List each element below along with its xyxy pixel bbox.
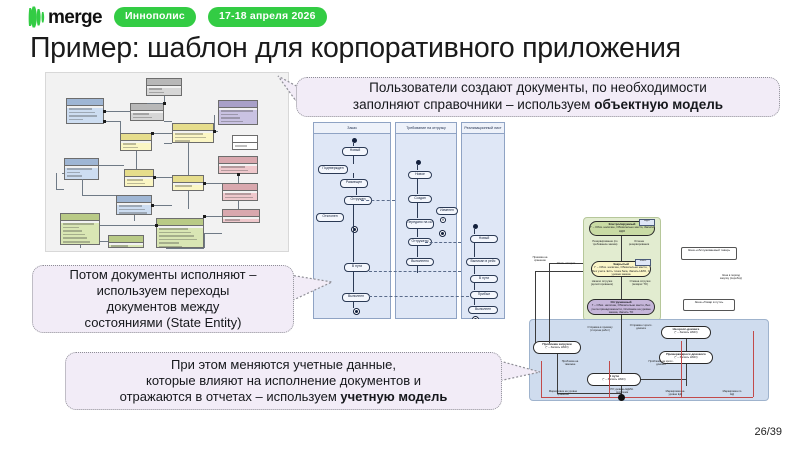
er-entity-attribute: [221, 166, 245, 168]
callout3-line2: которые влияют на исполнение документов …: [146, 373, 421, 388]
er-entity-attribute: [111, 245, 128, 247]
accounting-state-detail: (* – Запись НМО): [674, 330, 697, 334]
state-node: Создан: [408, 195, 432, 203]
er-relationship-line: [99, 165, 124, 166]
er-relationship-line: [164, 121, 172, 122]
er-relationship-endpoint: [203, 182, 206, 185]
state-node: Передано на склад: [406, 219, 434, 229]
er-entity-attribute: [159, 228, 188, 230]
accounting-transition-label: Резервирование (по требованию заказа): [591, 241, 619, 247]
er-entity-attribute: [63, 237, 87, 239]
state-node: Выполнен: [342, 293, 370, 302]
state-node: Отклонен: [316, 213, 344, 222]
callout1-line1: Пользователи создают документы, по необх…: [369, 80, 707, 95]
er-relationship-line: [152, 133, 172, 134]
state-transition-arrow: [474, 282, 475, 290]
er-entity-header: [117, 196, 151, 203]
accounting-transition-label: Маркировка по ЕД: [721, 391, 743, 397]
state-node: Размещен: [340, 179, 368, 188]
er-entity-attribute: [63, 223, 94, 225]
object-model-callout: Пользователи создают документы, по необх…: [296, 77, 780, 117]
state-final-node: [439, 230, 446, 237]
er-entity-attribute: [67, 168, 92, 170]
state-transition-arrow: [353, 301, 354, 308]
er-entity-body: [61, 223, 99, 245]
er-entity-attribute: [175, 133, 203, 135]
er-relationship-line: [188, 191, 189, 209]
er-entity-attribute: [159, 242, 179, 244]
state-node-label: Новый: [343, 148, 367, 153]
callout2-line3: документов между: [107, 299, 220, 314]
accounting-transition: [621, 277, 622, 299]
er-entity: [64, 158, 99, 180]
er-entity: [116, 195, 152, 215]
state-node-label: Новый: [471, 236, 497, 241]
er-entity-attribute: [133, 117, 152, 119]
er-entity-attribute: [149, 88, 162, 90]
er-relationship-line: [188, 143, 189, 175]
er-relationship-line: [56, 173, 57, 189]
accounting-transition-label: Проблема на таможне: [557, 361, 583, 367]
er-entity: [222, 183, 258, 201]
er-entity-attribute: [235, 145, 247, 147]
er-entity-attribute: [133, 113, 149, 115]
er-entity: [130, 103, 164, 121]
er-entity-header: [67, 99, 103, 106]
er-relationship-endpoint: [151, 132, 154, 135]
er-relationship-line: [100, 225, 156, 226]
accounting-transition-label: Отмена отгрузки (возврат ТО): [625, 281, 655, 287]
state-node-label: Размещен: [341, 180, 367, 185]
er-entity-body: [223, 219, 259, 223]
er-entity-header: [121, 134, 151, 141]
object-model-callout-text: Пользователи создают документы, по необх…: [345, 77, 731, 117]
er-entity-attribute: [67, 175, 82, 177]
er-entity-attribute: [149, 92, 164, 94]
er-entity: [218, 100, 258, 125]
accounting-junction-node: [618, 394, 625, 401]
accounting-state-detail: Г – Обяз. наличие, Обязательно место, Бе…: [592, 265, 650, 275]
accounting-state-detail: (* – Запись НМО): [545, 345, 568, 349]
er-diagram-object-model: [45, 72, 289, 252]
er-entity-attribute: [225, 197, 253, 199]
state-node-label: Изменен: [437, 208, 457, 213]
callout3-line3-bold: учетную модель: [340, 389, 447, 404]
accounting-state-detail: Г – Обяз. наличие, Обязательно место, Бе…: [591, 303, 651, 313]
er-entity-body: [173, 133, 213, 143]
page-number: 26/39: [754, 426, 782, 438]
er-entity-attribute: [225, 193, 251, 195]
accounting-transition-label: Приемка на хранение: [527, 257, 553, 263]
state-transition-arrow: [474, 298, 475, 305]
er-entity-attribute: [69, 108, 92, 110]
er-entity-attribute: [67, 172, 80, 174]
accounting-state-node: ОтгруженныйГ – Обяз. наличие, Обязательн…: [587, 299, 655, 315]
state-node-label: Прибыл: [471, 292, 497, 297]
er-entity-header: [125, 170, 153, 177]
accounting-transition-label: Начало отгрузки (долистирование): [587, 281, 617, 287]
state-lane-title: Требование на отгрузку: [396, 123, 456, 134]
er-entity-attribute: [69, 119, 83, 121]
callout1-line2-prefix: заполняют справочники – используем: [353, 97, 594, 112]
er-entity-body: [109, 245, 143, 248]
state-node-label: Передано на склад: [407, 220, 433, 225]
er-relationship-line: [100, 241, 108, 242]
er-entity-body: [219, 110, 257, 125]
accounting-transition-label: РЛ уровень ЕДИН. проблема: [607, 389, 637, 395]
state-lane: Реализационный листНовыйВыписан в рейсВ …: [461, 122, 505, 319]
badge-location: Иннополис: [114, 7, 196, 26]
state-node: Изменен: [436, 207, 458, 215]
er-entity-attribute: [221, 121, 243, 123]
er-entity-body: [147, 88, 181, 96]
er-relationship-endpoint: [103, 120, 106, 123]
accounting-state-detail: Г – Обяз. наличие, Обязательно место, За…: [590, 225, 653, 232]
er-entity: [66, 98, 104, 124]
er-relationship-line: [204, 233, 205, 248]
state-node-label: Выписан в рейс: [467, 259, 499, 264]
callout2-line1: Потом документы исполняют –: [70, 267, 257, 282]
accounting-transition: [686, 339, 687, 351]
er-entity-body: [157, 228, 203, 248]
er-relationship-line: [56, 189, 64, 190]
er-entity-header: [219, 101, 257, 108]
er-entity-body: [125, 179, 153, 187]
accounting-transition: [535, 271, 583, 272]
accounting-model-callout: При этом меняются учетные данные, которы…: [65, 352, 502, 410]
er-entity-attribute: [119, 209, 145, 211]
state-transition-arrow: [353, 173, 354, 178]
er-relationship-line: [204, 216, 222, 217]
state-node-label: Выполнен: [469, 307, 497, 312]
er-entity-header: [173, 176, 203, 183]
state-transition-arrow: [417, 165, 418, 170]
state-node-label: Подтвержден: [319, 166, 347, 171]
state-sync-link: [361, 200, 395, 201]
er-relationship-endpoint: [203, 215, 206, 218]
accounting-transition-label: Отправка в приемку (сторона работ): [583, 327, 617, 333]
er-entity-header: [61, 214, 99, 221]
er-entity-attribute: [123, 147, 138, 149]
er-entity-attribute: [225, 219, 240, 221]
state-node: Новое: [408, 171, 432, 179]
accounting-transition-label: Отмена резервирования: [625, 241, 653, 247]
accounting-model-callout-text: При этом меняются учетные данные, которы…: [112, 354, 456, 409]
state-node: Выписан в рейс: [466, 258, 500, 266]
accounting-transition-label: Опись истории: [555, 263, 577, 266]
state-node-label: В пути: [471, 276, 497, 281]
state-transition-arrow: [474, 242, 475, 257]
er-entity-attribute: [221, 110, 253, 112]
er-relationship-line: [204, 233, 222, 234]
state-lane: ЗаказНовыйПодтвержденРазмещенОтгруженОтк…: [313, 122, 391, 319]
er-entity: [222, 209, 260, 223]
er-relationship-endpoint: [153, 176, 156, 179]
callout3-line1: При этом меняются учетные данные,: [171, 357, 396, 372]
badge-dates: 17-18 апреля 2026: [208, 7, 327, 26]
er-entity-attribute: [63, 230, 82, 232]
er-entity: [172, 123, 214, 143]
er-entity-attribute: [119, 212, 147, 214]
er-entity-header: [147, 79, 181, 86]
state-transition-arrow: [356, 187, 357, 195]
er-entity-attribute: [63, 227, 79, 229]
state-node-label: Выполнен: [343, 294, 369, 299]
callout2-line2: используем переходы: [97, 283, 230, 298]
state-transition-arrow: [417, 202, 418, 218]
er-entity: [124, 169, 154, 187]
er-entity-attribute: [69, 112, 95, 114]
er-entity-attribute: [175, 137, 206, 139]
er-relationship-line: [204, 183, 222, 184]
accounting-transition: [621, 315, 622, 373]
accounting-marking-line: [541, 361, 542, 397]
er-entity-attribute: [63, 241, 90, 243]
er-relationship-line: [80, 245, 81, 248]
slide: merge Иннополис 17-18 апреля 2026 Пример…: [0, 0, 800, 450]
er-relationship-line: [147, 103, 164, 104]
er-entity-body: [117, 205, 151, 215]
state-transition-arrow: [353, 143, 354, 146]
state-node-label: Отклонен: [317, 214, 343, 219]
state-node: Выполнено: [406, 258, 434, 266]
er-entity-attribute: [127, 183, 145, 185]
state-transition-arrow: [417, 228, 418, 237]
er-entity-attribute: [159, 232, 191, 234]
er-entity-header: [157, 219, 203, 226]
er-entity-header: [65, 159, 98, 166]
er-entity: [60, 213, 100, 245]
accounting-transition-label: Отправка с кросс-докинга: [627, 325, 655, 331]
state-transition-arrow: [353, 271, 354, 292]
state-node: Новый: [342, 147, 368, 156]
er-entity-attribute: [221, 117, 240, 119]
er-relationship-line: [104, 111, 130, 112]
er-relationship-line: [82, 179, 83, 195]
merge-logo: merge: [28, 6, 102, 28]
state-diagram-state-entity: ЗаказНовыйПодтвержденРазмещенОтгруженОтк…: [303, 122, 508, 319]
er-relationship-line: [154, 177, 172, 178]
er-entity-header: [131, 104, 163, 111]
accounting-model-diagram: КонтролируемыйГ – Обяз. наличие, Обязате…: [521, 211, 779, 405]
er-relationship-endpoint: [155, 224, 158, 227]
accounting-state-node: Проблема загрузки(* – Запись НМО): [533, 341, 581, 354]
accounting-transition: [641, 379, 686, 380]
er-entity-attribute: [69, 115, 97, 117]
er-entity-body: [233, 145, 257, 150]
er-relationship-line: [134, 215, 135, 221]
er-relationship-line: [152, 205, 172, 206]
state-lane-title: Заказ: [314, 123, 390, 134]
er-entity-header: [219, 157, 257, 164]
er-entity-attribute: [175, 140, 190, 142]
er-entity: [172, 175, 204, 191]
er-relationship-line: [82, 195, 116, 196]
state-transition-arrow: [474, 265, 475, 274]
er-relationship-line: [214, 115, 215, 131]
accounting-zone-note: Зона «обслуживаемый товар»: [681, 247, 737, 260]
accounting-state-detail: (* – Запись НМО): [602, 377, 625, 381]
er-entity-attribute: [175, 185, 192, 187]
accounting-transition: [549, 263, 550, 343]
accounting-state-node: На кросс-докинге(* – Запись НМО): [661, 326, 711, 339]
er-relationship-endpoint: [213, 130, 216, 133]
er-entity: [218, 156, 258, 174]
accounting-transition: [621, 236, 622, 261]
accounting-zone-note: Зона «Товар в пути»: [683, 299, 735, 311]
accounting-transition: [557, 354, 558, 394]
state-transition-arrow: [353, 204, 354, 262]
accounting-state-node: В пути(* – Запись НМО): [587, 373, 641, 386]
slide-header: merge Иннополис 17-18 апреля 2026: [28, 6, 327, 28]
er-entity: [146, 78, 182, 96]
state-sync-link: [369, 296, 469, 297]
accounting-state-detail: (* – Запись НМО): [674, 355, 697, 359]
accounting-marking-line: [681, 341, 682, 397]
er-entity-header: [233, 136, 257, 143]
state-sync-link: [425, 242, 461, 243]
state-entity-callout-text: Потом документы исполняют – используем п…: [62, 264, 265, 335]
er-entity-attribute: [127, 179, 143, 181]
er-entity-body: [131, 113, 163, 121]
callout3-line3-prefix: отражаются в отчетах – используем: [120, 389, 341, 404]
er-relationship-endpoint: [237, 173, 240, 176]
er-entity-header: [223, 210, 259, 217]
er-relationship-endpoint: [151, 204, 154, 207]
er-entity: [108, 235, 144, 248]
er-entity-body: [223, 193, 257, 201]
state-transition-arrow: [474, 229, 475, 234]
er-relationship-line: [136, 151, 137, 169]
state-final-node: [353, 308, 360, 315]
er-entity-attribute: [123, 143, 136, 145]
er-entity: [120, 133, 152, 151]
state-node-label: Создан: [409, 196, 431, 201]
accounting-marking-line: [541, 397, 753, 398]
er-relationship-endpoint: [163, 102, 166, 105]
er-entity: [156, 218, 204, 248]
er-entity-header: [173, 124, 213, 131]
state-transition-arrow: [353, 155, 354, 164]
accounting-transition-label: Маркировка на уровне ЕД: [661, 391, 689, 397]
accounting-state-tag: НДО: [639, 219, 655, 226]
er-entity-attribute: [221, 114, 238, 116]
callout1-line2-bold: объектную модель: [594, 97, 723, 112]
state-lane: Требование на отгрузкуНовоеСозданИзменен…: [395, 122, 457, 319]
state-node: Подтвержден: [318, 165, 348, 174]
state-node-label: Новое: [409, 172, 431, 177]
er-entity: [232, 135, 258, 150]
state-lane-title: Реализационный лист: [462, 123, 504, 134]
er-relationship-line: [99, 165, 100, 166]
state-node: Выполнен: [468, 306, 498, 314]
state-sync-link: [369, 271, 461, 272]
er-entity-attribute: [63, 234, 85, 236]
callout2-line4: состояниями (State Entity): [85, 315, 242, 330]
merge-logo-text: merge: [48, 8, 102, 27]
er-relationship-line: [120, 121, 121, 133]
er-relationship-endpoint: [103, 110, 106, 113]
state-final-node: [472, 316, 479, 319]
accounting-transition-label: Маркировка на уровне хранения: [547, 391, 579, 397]
accounting-transition: [535, 271, 536, 343]
er-entity-attribute: [119, 205, 142, 207]
er-entity-attribute: [159, 239, 197, 241]
er-entity-body: [67, 108, 103, 124]
state-history-node: H: [440, 217, 446, 223]
state-node-label: Выполнено: [407, 259, 433, 264]
er-entity-attribute: [159, 235, 194, 237]
page-title: Пример: шаблон для корпоративного прилож…: [30, 32, 775, 65]
er-relationship-line: [238, 201, 239, 209]
accounting-transition-label: Зона в период закупку (перебор): [719, 275, 743, 281]
er-entity-body: [121, 143, 151, 151]
accounting-transition-label: Проблема на кросс-докинге: [647, 361, 675, 367]
accounting-transition: [686, 364, 687, 386]
er-relationship-line: [166, 248, 204, 249]
er-relationship-line: [104, 121, 120, 122]
state-node: В пути: [344, 263, 370, 272]
merge-leaf-icon: [28, 6, 45, 28]
er-relationship-line: [164, 143, 172, 144]
state-transition-arrow: [417, 245, 418, 257]
er-relationship-line: [62, 173, 64, 174]
accounting-state-tag: ЮНО: [635, 259, 651, 266]
accounting-marking-line: [753, 331, 754, 397]
er-entity-header: [223, 184, 257, 191]
er-entity-header: [109, 236, 143, 243]
state-node-label: В пути: [345, 264, 369, 269]
state-entity-callout: Потом документы исполняют – используем п…: [32, 265, 294, 333]
state-transition-arrow: [417, 178, 418, 194]
er-entity-attribute: [221, 170, 248, 172]
